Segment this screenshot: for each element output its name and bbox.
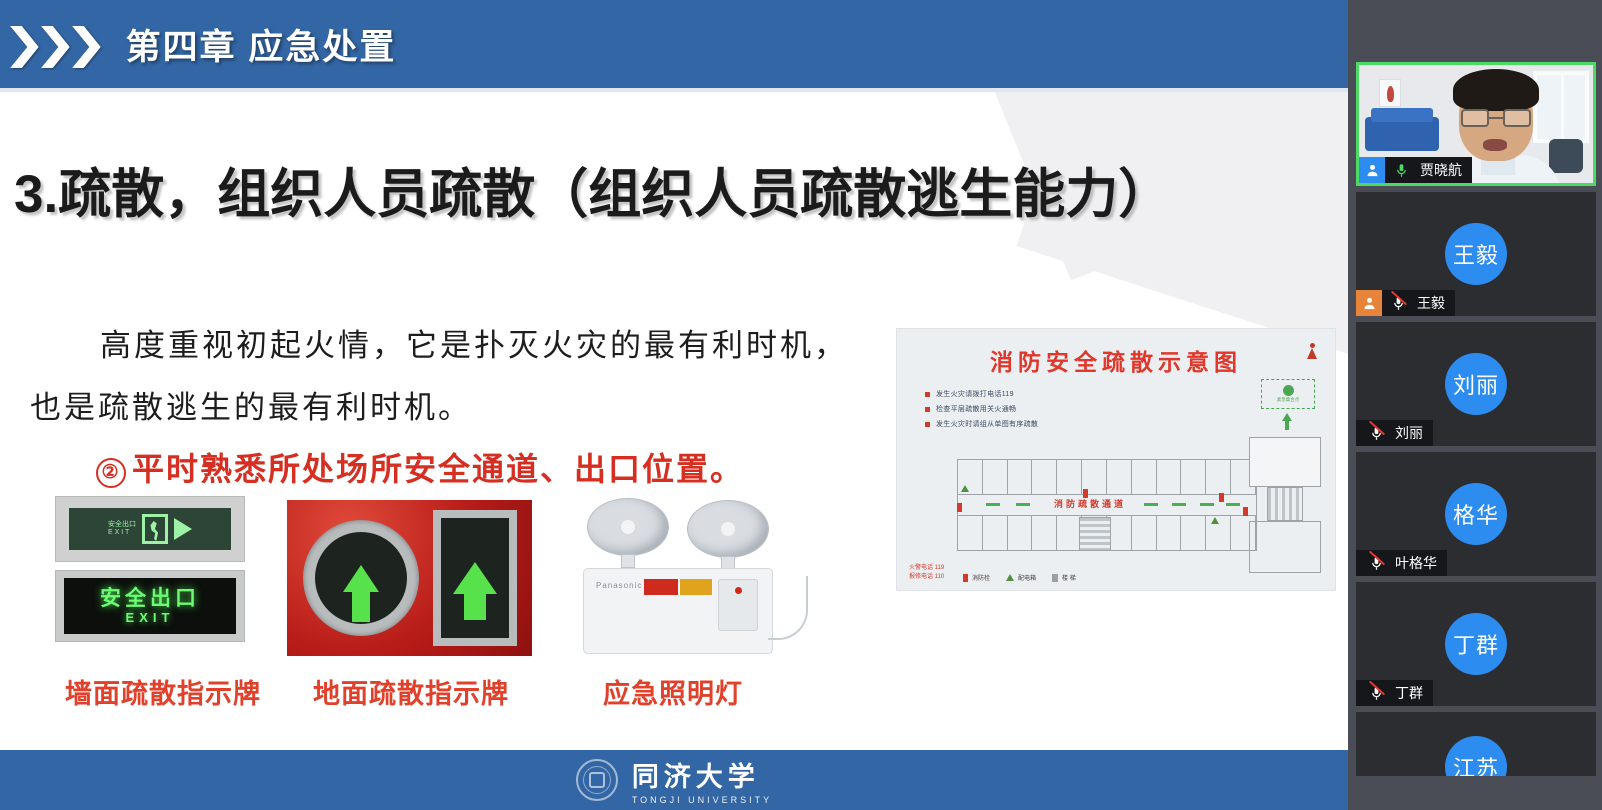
phone-line: 火警电话 119 bbox=[909, 564, 944, 573]
arrow-up-icon bbox=[343, 565, 379, 592]
diagram-note: 发生火灾请拨打电话119 bbox=[925, 389, 1038, 399]
university-name-en: TONGJI UNIVERSITY bbox=[632, 795, 772, 805]
hydrant-marker bbox=[957, 503, 962, 512]
diagram-note-text: 检查平层疏散用关火通畅 bbox=[936, 404, 1016, 414]
avatar: 王毅 bbox=[1445, 223, 1507, 285]
caption-floor-sign: 地面疏散指示牌 bbox=[313, 672, 509, 711]
exit-sign-cn: 安全出口 bbox=[100, 587, 200, 610]
meeting-screen-share-view: ❯❯❯ 第四章 应急处置 3.疏散，组织人员疏散（组织人员疏散逃生能力） 高度重… bbox=[0, 0, 1602, 810]
body-paragraph-line-1: 高度重视初起火情，它是扑灭火灾的最有利时机， bbox=[100, 320, 848, 365]
body-paragraph-line-2: 也是疏散逃生的最有利时机。 bbox=[30, 382, 472, 427]
person-icon bbox=[1356, 290, 1382, 316]
corridor-label: 消防疏散通道 bbox=[1054, 497, 1126, 510]
participant-name: 王毅 bbox=[1417, 293, 1445, 313]
avatar: 刘丽 bbox=[1445, 353, 1507, 415]
legend-item-stairs: 楼 梯 bbox=[1052, 573, 1076, 582]
legend-item-panel: 配电箱 bbox=[1006, 573, 1036, 582]
person-icon bbox=[1359, 157, 1385, 183]
exit-sign-small-label: 安全出口E X I T bbox=[108, 521, 136, 537]
slide-main-title: 3.疏散，组织人员疏散（组织人员疏散逃生能力） bbox=[14, 152, 1334, 228]
arrow-up-icon bbox=[1282, 413, 1292, 421]
photo-captions: 墙面疏散指示牌 地面疏散指示牌 应急照明灯 bbox=[55, 672, 815, 712]
point-text: 平时熟悉所处场所安全通道、出口位置。 bbox=[132, 451, 744, 487]
microphone-muted-icon bbox=[1364, 685, 1388, 702]
arrow-up-icon bbox=[453, 562, 497, 594]
point-number: ② bbox=[96, 458, 126, 488]
microphone-muted-icon bbox=[1386, 295, 1410, 312]
floor-plan: 消防疏散通道 bbox=[957, 459, 1257, 551]
participant-name: 丁群 bbox=[1395, 683, 1423, 703]
lamp-label-yellow bbox=[680, 579, 712, 595]
lamp-head-right bbox=[687, 500, 769, 558]
wall-exit-sign-text: 安全出口 EXIT bbox=[55, 570, 245, 642]
microphone-muted-icon bbox=[1364, 555, 1388, 572]
participant-video-panel[interactable]: 贾晓航 王毅 王毅 刘丽 bbox=[1348, 0, 1602, 810]
microphone-on-icon bbox=[1389, 162, 1413, 179]
caption-wall-sign: 墙面疏散指示牌 bbox=[65, 672, 261, 711]
floor-plan-block-a bbox=[1249, 437, 1321, 487]
avatar: 江苏 bbox=[1445, 736, 1507, 776]
shared-screen-stage[interactable]: ❯❯❯ 第四章 应急处置 3.疏散，组织人员疏散（组织人员疏散逃生能力） 高度重… bbox=[0, 0, 1348, 810]
hydrant-marker bbox=[1243, 507, 1248, 516]
highlighted-point: ②平时熟悉所处场所安全通道、出口位置。 bbox=[96, 444, 744, 490]
diagram-note-text: 发生火灾时请组从单图有序疏散 bbox=[936, 419, 1038, 429]
university-name-cn: 同济大学 bbox=[632, 755, 760, 794]
diagram-title: 消防安全疏散示意图 bbox=[897, 343, 1335, 377]
diagram-note: 发生火灾时请组从单图有序疏散 bbox=[925, 419, 1038, 429]
video-tile-participant[interactable]: 刘丽 刘丽 bbox=[1356, 322, 1596, 446]
participant-name-bar: 丁群 bbox=[1356, 680, 1433, 706]
participant-name-bar: 贾晓航 bbox=[1359, 157, 1472, 183]
panel-marker bbox=[1211, 517, 1219, 524]
diagram-note-text: 发生火灾请拨打电话119 bbox=[936, 389, 1014, 399]
exit-sign-en: EXIT bbox=[126, 610, 175, 625]
arrow-right-icon bbox=[174, 518, 192, 540]
university-seal-icon bbox=[576, 759, 618, 801]
lamp-label-red bbox=[644, 579, 678, 595]
slide-header-band: ❯❯❯ 第四章 应急处置 bbox=[0, 0, 1348, 88]
floor-plan-block-b bbox=[1267, 487, 1303, 521]
lamp-neck-left bbox=[621, 554, 635, 568]
floor-sign-rectangular bbox=[433, 510, 517, 646]
participant-name: 刘丽 bbox=[1395, 423, 1423, 443]
legend-label: 配电箱 bbox=[1018, 573, 1036, 582]
lamp-head-left bbox=[587, 498, 669, 556]
chevron-right-icon: ❯❯❯ bbox=[6, 23, 100, 65]
photo-emergency-light: Panasonic bbox=[583, 498, 778, 658]
hydrant-marker bbox=[1083, 489, 1088, 498]
evacuation-diagram: 消防安全疏散示意图 发生火灾请拨打电话119 检查平层疏散用关火通畅 发生火灾时… bbox=[896, 328, 1336, 591]
participant-name-bar: 王毅 bbox=[1356, 290, 1455, 316]
diagram-legend: 消防栓 配电箱 楼 梯 bbox=[963, 573, 1323, 582]
hydrant-marker bbox=[1219, 493, 1224, 502]
legend-item-hydrant: 消防栓 bbox=[963, 573, 990, 582]
video-tile-participant[interactable]: 格华 叶格华 bbox=[1356, 452, 1596, 576]
participant-name: 贾晓航 bbox=[1420, 160, 1462, 180]
lamp-brand-text: Panasonic bbox=[596, 581, 642, 590]
microphone-muted-icon bbox=[1364, 425, 1388, 442]
participant-name-bar: 叶格华 bbox=[1356, 550, 1447, 576]
person-icon bbox=[1307, 343, 1317, 359]
wall-exit-sign-running-man: 安全出口E X I T bbox=[55, 496, 245, 562]
header-divider bbox=[0, 88, 1348, 92]
floor-plan-corridor: 消防疏散通道 bbox=[957, 495, 1257, 515]
running-man-icon bbox=[142, 514, 168, 544]
diagram-notes: 发生火灾请拨打电话119 检查平层疏散用关火通畅 发生火灾时请组从单图有序疏散 bbox=[925, 389, 1038, 434]
participant-name: 叶格华 bbox=[1395, 553, 1437, 573]
avatar: 格华 bbox=[1445, 483, 1507, 545]
photo-floor-evacuation-signs bbox=[287, 500, 532, 656]
background-artwork bbox=[1379, 79, 1401, 107]
slide-chapter-title: 第四章 应急处置 bbox=[126, 19, 397, 70]
diagram-phone-numbers: 火警电话 119 报修电话 110 bbox=[909, 564, 944, 582]
video-tile-participant[interactable]: 王毅 王毅 bbox=[1356, 192, 1596, 316]
floor-sign-circular bbox=[303, 520, 419, 636]
photo-wall-exit-signs: 安全出口E X I T 安全出口 EXIT bbox=[55, 496, 245, 642]
video-tile-participant-partial[interactable]: 江苏 bbox=[1356, 712, 1596, 776]
video-tile-active-speaker[interactable]: 贾晓航 bbox=[1356, 62, 1596, 186]
lamp-socket bbox=[718, 579, 758, 631]
video-tile-participant[interactable]: 丁群 丁群 bbox=[1356, 582, 1596, 706]
avatar: 丁群 bbox=[1445, 613, 1507, 675]
background-sofa bbox=[1365, 117, 1439, 151]
floor-plan-block-c bbox=[1249, 521, 1321, 573]
diagram-note: 检查平层疏散用关火通畅 bbox=[925, 404, 1038, 414]
floor-plan-stairs bbox=[1079, 517, 1111, 551]
caption-emergency-light: 应急照明灯 bbox=[603, 672, 743, 711]
panel-marker bbox=[961, 485, 969, 492]
legend-label: 消防栓 bbox=[972, 573, 990, 582]
presentation-slide: ❯❯❯ 第四章 应急处置 3.疏散，组织人员疏散（组织人员疏散逃生能力） 高度重… bbox=[0, 0, 1348, 810]
floor-plan-room-row-top bbox=[957, 459, 1257, 495]
phone-line: 报修电话 110 bbox=[909, 573, 944, 582]
assembly-point-marker: 紧急集合点 bbox=[1261, 379, 1315, 409]
lamp-body: Panasonic bbox=[583, 568, 773, 654]
participant-name-bar: 刘丽 bbox=[1356, 420, 1433, 446]
lamp-power-cord bbox=[768, 576, 808, 640]
assembly-point-label: 紧急集合点 bbox=[1277, 397, 1300, 403]
legend-label: 楼 梯 bbox=[1062, 573, 1076, 582]
slide-footer-band: 同济大学 TONGJI UNIVERSITY bbox=[0, 750, 1348, 810]
